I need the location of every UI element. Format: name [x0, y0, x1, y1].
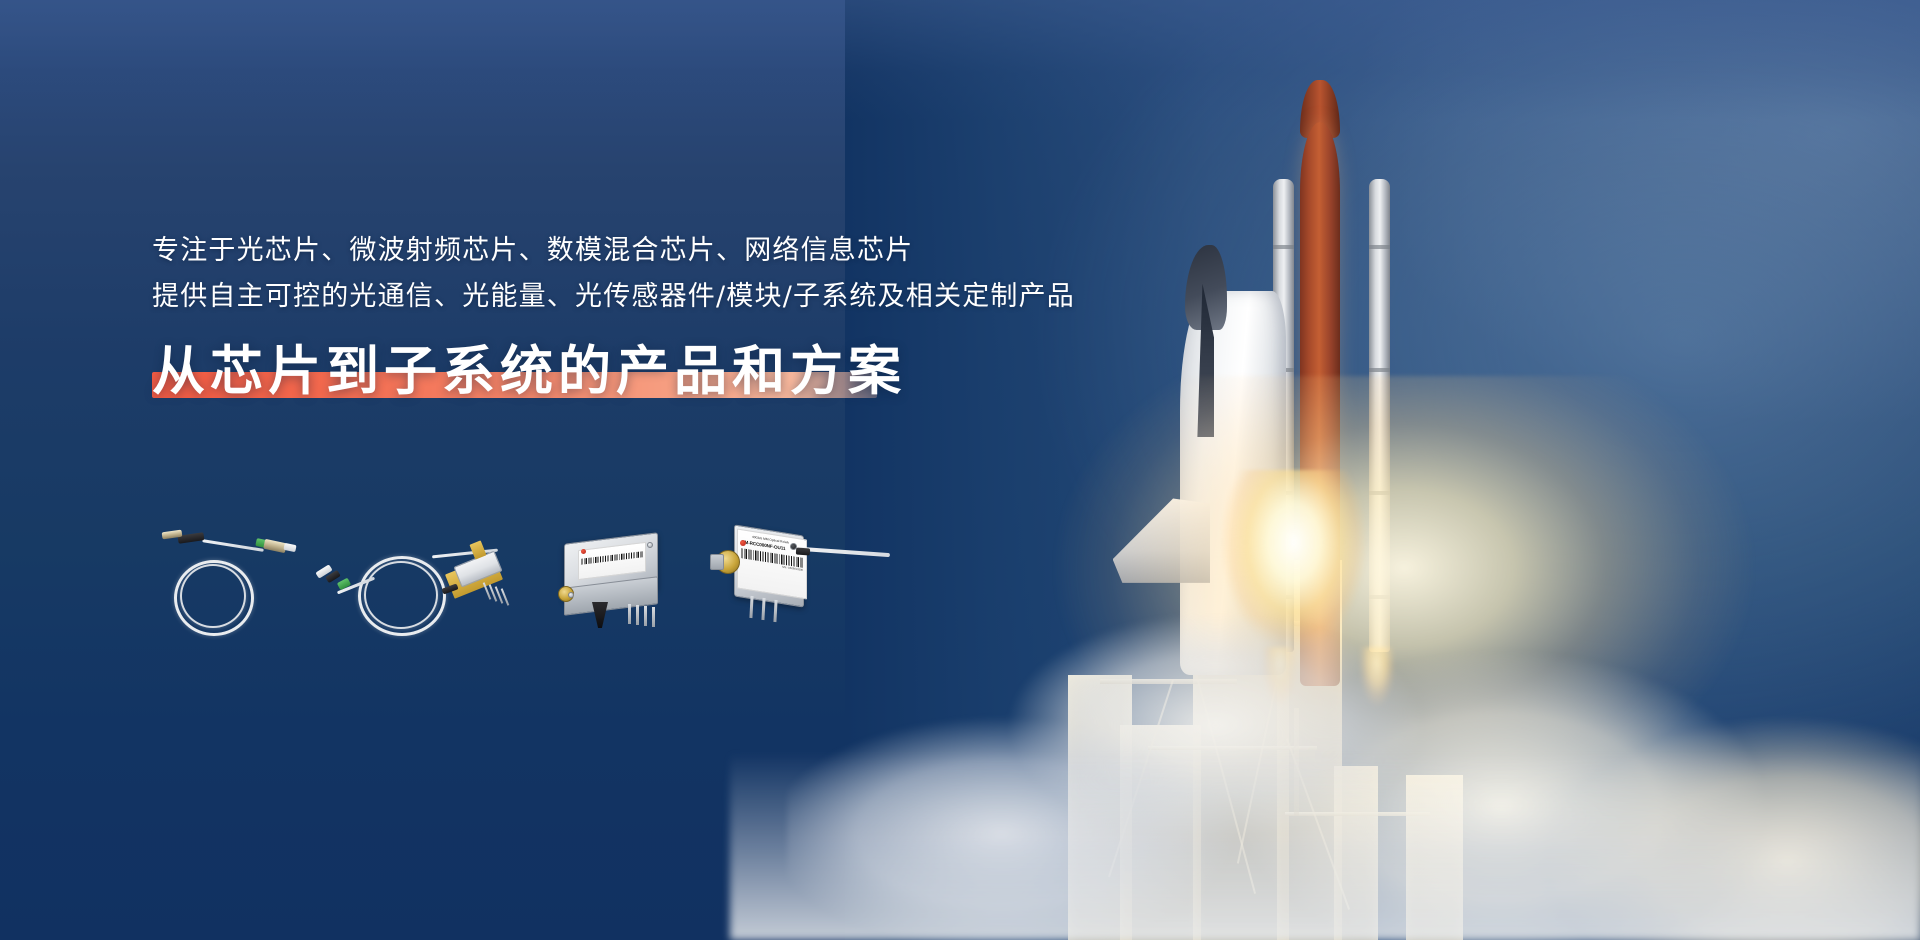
module-pin — [644, 606, 647, 626]
module-label: 40Gb/s MM Optical Rx/wk OM-RCC000NF-OU11… — [737, 528, 807, 599]
barcode — [581, 551, 643, 565]
fiber-boot — [796, 548, 810, 556]
sky-top-band — [0, 0, 1920, 120]
rf-metal-box-module — [550, 532, 670, 628]
module-pin — [628, 604, 631, 624]
banner-headline: 从芯片到子系统的产品和方案 — [152, 340, 906, 404]
fiber-output-lead — [800, 547, 890, 557]
module-pin — [761, 598, 765, 620]
fiber-coil-inner — [180, 564, 246, 628]
screw — [568, 592, 574, 598]
banner-subtitle-line-1: 专注于光芯片、微波射频芯片、数模混合芯片、网络信息芯片 — [152, 228, 1112, 274]
optical-receiver-module: 40Gb/s MM Optical Rx/wk OM-RCC000NF-OU11… — [710, 526, 890, 628]
module-fiber-boot — [592, 602, 608, 628]
hero-banner: 专注于光芯片、微波射频芯片、数模混合芯片、网络信息芯片 提供自主可控的光通信、光… — [0, 0, 1920, 940]
banner-content: 专注于光芯片、微波射频芯片、数模混合芯片、网络信息芯片 提供自主可控的光通信、光… — [152, 228, 1112, 404]
module-pin — [652, 607, 655, 627]
fiber-pigtail-coil-left — [150, 526, 310, 636]
butterfly-laser-module — [442, 534, 520, 612]
fiber-coil-inner — [364, 561, 438, 629]
brand-logo-icon — [740, 540, 746, 546]
connector-base — [710, 554, 724, 570]
banner-subtitle-line-2: 提供自主可控的光通信、光能量、光传感器件/模块/子系统及相关定制产品 — [152, 274, 1112, 320]
module-pin — [773, 600, 777, 622]
product-strip: 40Gb/s MM Optical Rx/wk OM-RCC000NF-OU11… — [150, 526, 890, 656]
screw — [647, 542, 653, 548]
brand-logo-icon — [581, 549, 586, 554]
banner-headline-wrap: 从芯片到子系统的产品和方案 — [152, 340, 906, 404]
ground-smoke — [730, 752, 1920, 940]
module-pin — [749, 596, 753, 618]
fiber-lead — [202, 539, 264, 552]
fiber-connector-tip — [283, 543, 296, 552]
module-pin — [636, 605, 639, 625]
